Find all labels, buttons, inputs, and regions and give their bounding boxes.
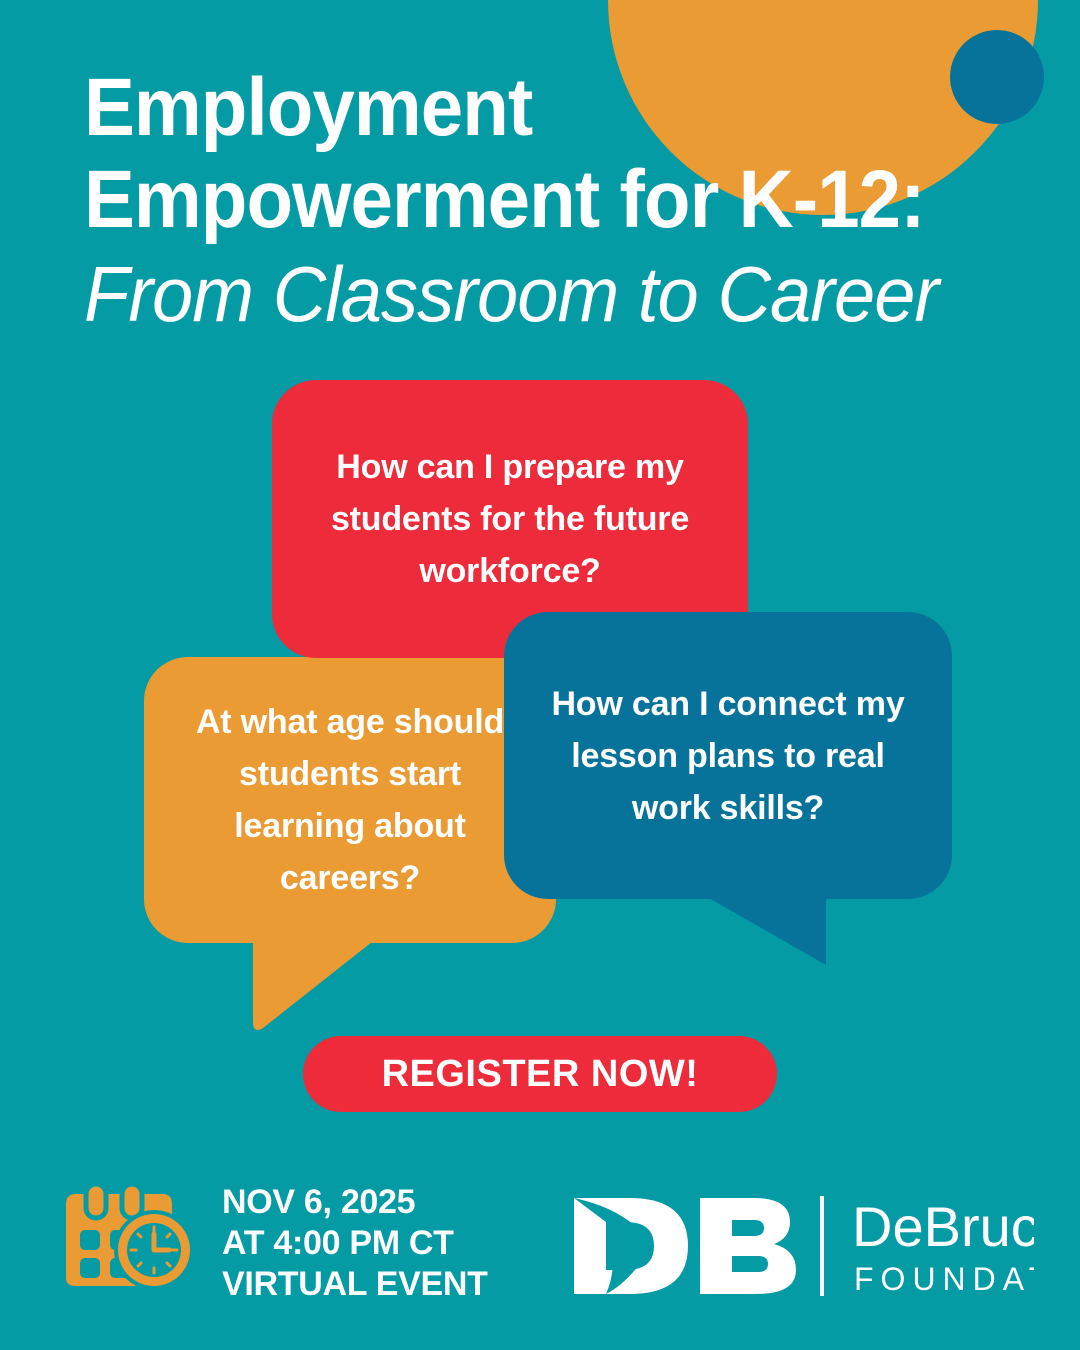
speech-bubble-orange: At what age should students start learni… xyxy=(144,657,556,943)
event-time: AT 4:00 PM CT xyxy=(222,1223,488,1264)
speech-bubble-red-text: How can I prepare my students for the fu… xyxy=(316,441,704,597)
logo-wordmark: DeBruce xyxy=(852,1195,1034,1258)
calendar-clock-icon xyxy=(62,1186,190,1290)
speech-bubble-blue: How can I connect my lesson plans to rea… xyxy=(504,612,952,899)
poster-canvas: Employment Empowerment for K-12: From Cl… xyxy=(0,0,1080,1350)
register-now-button[interactable]: REGISTER NOW! xyxy=(303,1036,777,1112)
debruce-foundation-logo: DeBruce FOUNDATION xyxy=(568,1188,1034,1306)
event-format: VIRTUAL EVENT xyxy=(222,1264,488,1305)
headline-block: Employment Empowerment for K-12: From Cl… xyxy=(84,62,1034,342)
speech-bubble-blue-text: How can I connect my lesson plans to rea… xyxy=(544,678,912,834)
headline-line-1: Employment xyxy=(84,62,968,154)
event-date: NOV 6, 2025 xyxy=(222,1182,488,1223)
headline-subtitle: From Classroom to Career xyxy=(84,246,987,342)
logo-divider xyxy=(820,1196,824,1296)
speech-bubble-tail-blue xyxy=(700,893,826,967)
db-monogram-icon xyxy=(574,1198,796,1294)
speech-bubble-orange-text: At what age should students start learni… xyxy=(178,696,522,904)
speech-bubble-tail-orange xyxy=(253,938,377,1030)
footer: NOV 6, 2025 AT 4:00 PM CT VIRTUAL EVENT … xyxy=(0,1178,1080,1318)
event-details: NOV 6, 2025 AT 4:00 PM CT VIRTUAL EVENT xyxy=(222,1182,488,1305)
headline-line-2: Empowerment for K-12: xyxy=(84,154,968,246)
logo-subtitle: FOUNDATION xyxy=(854,1261,1034,1297)
